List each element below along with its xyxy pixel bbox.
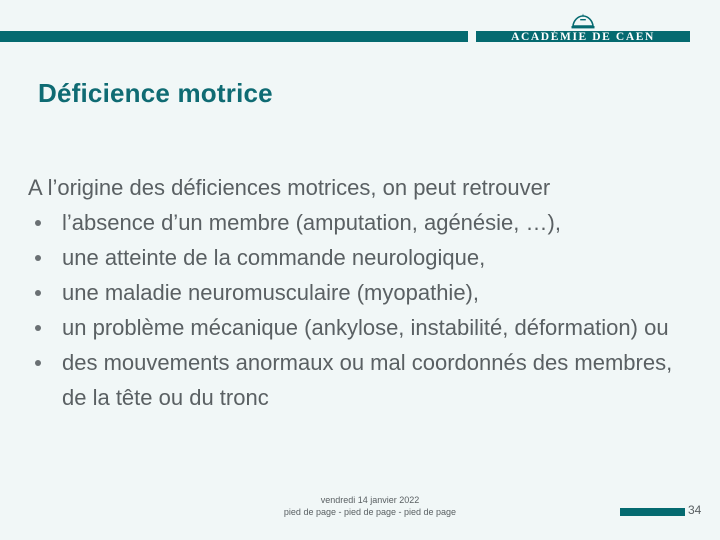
body-lead-paragraph: A l’origine des déficiences motrices, on… <box>28 170 628 205</box>
footer-date: vendredi 14 janvier 2022 <box>270 494 470 506</box>
bullet-dot-icon <box>35 360 41 366</box>
list-item: des mouvements anormaux ou mal coordonné… <box>28 345 688 415</box>
list-item: un problème mécanique (ankylose, instabi… <box>28 310 688 345</box>
academy-logo: ACADÉMIE DE CAEN <box>476 12 690 42</box>
list-item-label: un problème mécanique (ankylose, instabi… <box>62 315 669 340</box>
slide-footer: vendredi 14 janvier 2022 pied de page - … <box>0 494 720 540</box>
page-number: 34 <box>688 503 701 517</box>
list-item-label: une maladie neuromusculaire (myopathie), <box>62 280 479 305</box>
list-item: une maladie neuromusculaire (myopathie), <box>28 275 688 310</box>
header-bar-left <box>0 31 468 42</box>
list-item-label: l’absence d’un membre (amputation, agéné… <box>62 210 561 235</box>
cause-bullet-list: l’absence d’un membre (amputation, agéné… <box>28 205 688 415</box>
bullet-dot-icon <box>35 255 41 261</box>
footer-note: pied de page - pied de page - pied de pa… <box>250 506 490 518</box>
footer-rule <box>620 508 685 516</box>
academy-logo-text: ACADÉMIE DE CAEN <box>476 31 690 44</box>
list-item: une atteinte de la commande neurologique… <box>28 240 688 275</box>
slide-header: ACADÉMIE DE CAEN <box>0 0 720 60</box>
list-item-label: des mouvements anormaux ou mal coordonné… <box>62 350 672 410</box>
list-item: l’absence d’un membre (amputation, agéné… <box>28 205 688 240</box>
slide-body: A l’origine des déficiences motrices, on… <box>28 170 688 415</box>
bullet-dot-icon <box>35 220 41 226</box>
bullet-dot-icon <box>35 325 41 331</box>
dome-arch-icon <box>566 12 600 32</box>
list-item-label: une atteinte de la commande neurologique… <box>62 245 485 270</box>
page-title: Déficience motrice <box>38 78 273 109</box>
bullet-dot-icon <box>35 290 41 296</box>
